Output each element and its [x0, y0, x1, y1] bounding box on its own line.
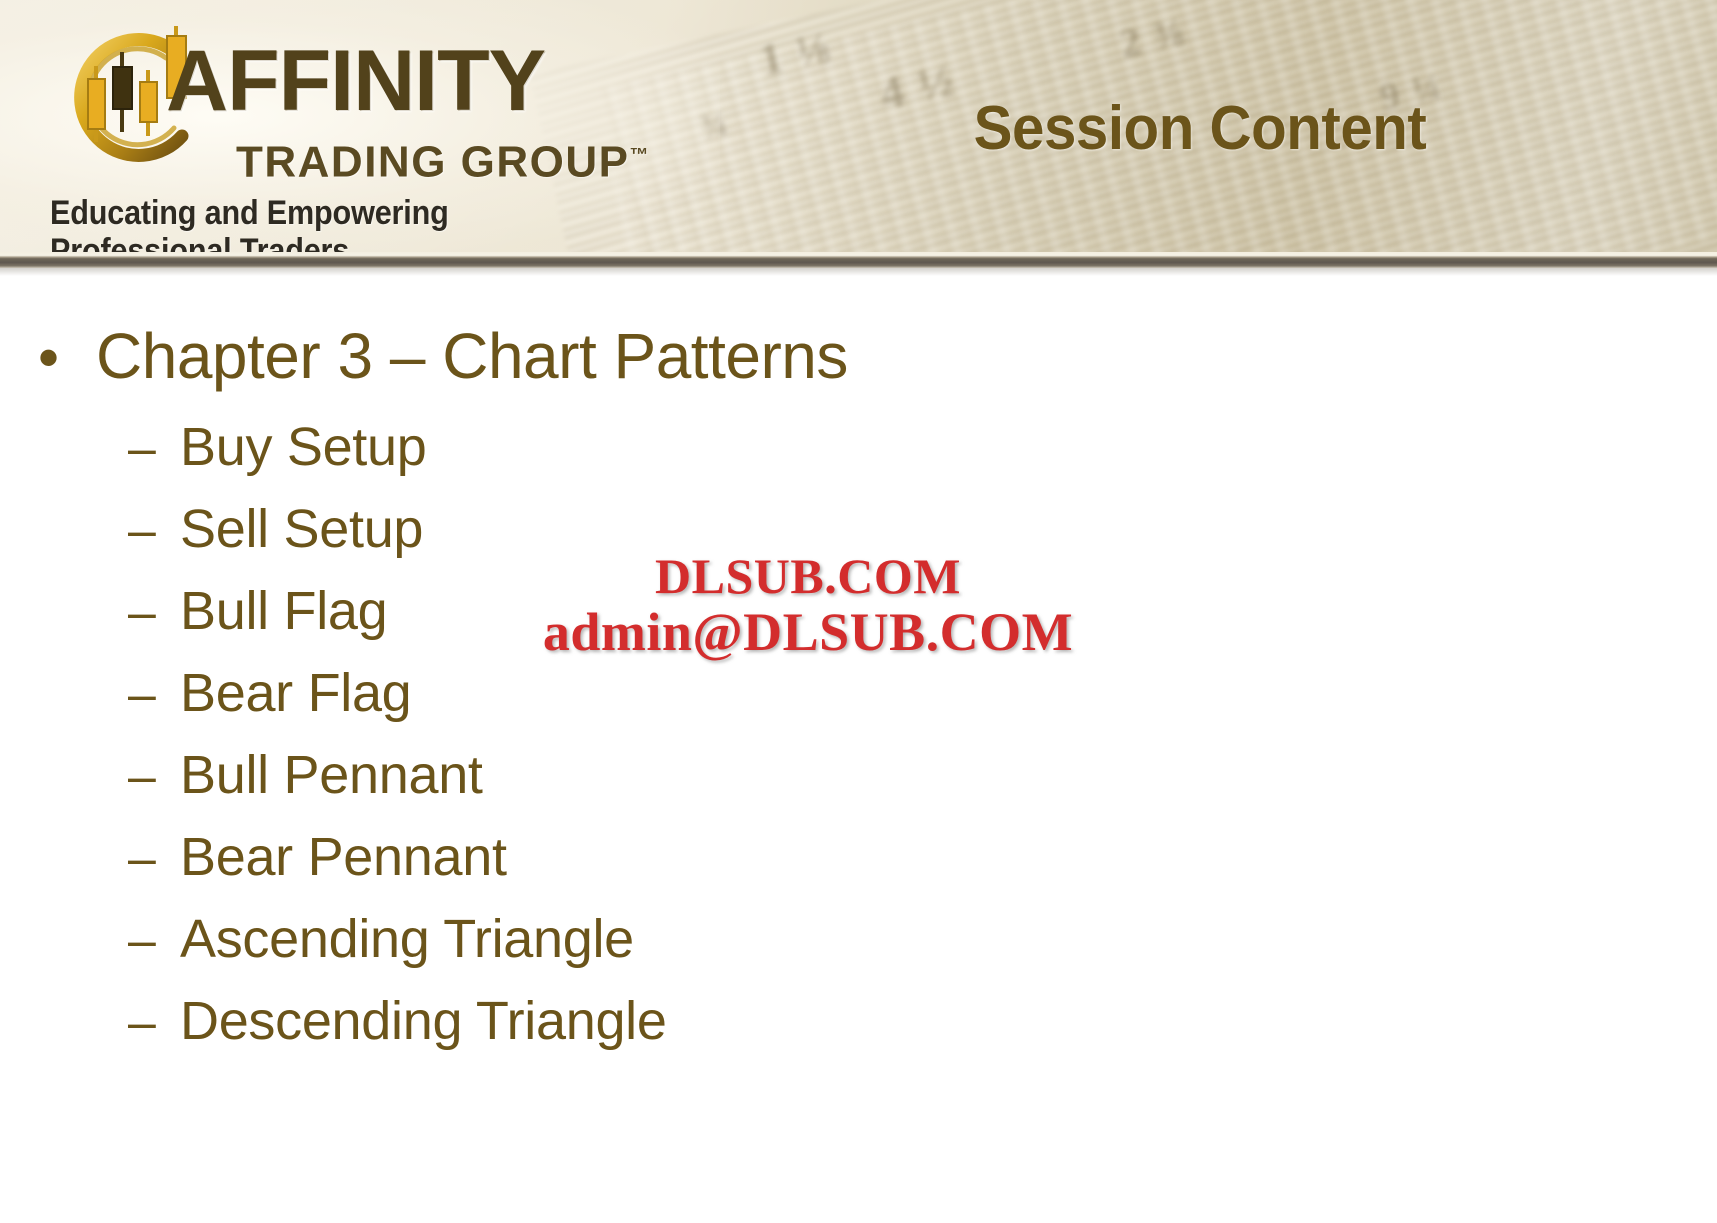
logo-subword-text: TRADING GROUP: [236, 138, 630, 187]
dash-icon: –: [128, 653, 180, 735]
outline-level2-list: – Buy Setup – Sell Setup – Bull Flag – B…: [128, 406, 1128, 1062]
dash-icon: –: [128, 407, 180, 489]
dash-icon: –: [128, 817, 180, 899]
list-item: – Bull Pennant: [128, 734, 1128, 816]
dash-icon: –: [128, 981, 180, 1063]
logo-trademark-symbol: ™: [630, 145, 649, 166]
outline-level2-label: Bull Flag: [180, 570, 387, 652]
dash-icon: –: [128, 571, 180, 653]
list-item: – Bear Flag: [128, 652, 1128, 734]
affinity-logo: AFFINITY TRADING GROUP™ Educating and Em…: [46, 16, 666, 246]
slide-title: Session Content: [918, 93, 1482, 165]
dash-icon: –: [128, 489, 180, 571]
slide-header-banner: 1 ⅛ ¾ 4 ½ 2 ⅜ 9 ¼: [0, 0, 1717, 258]
slide: 1 ⅛ ¾ 4 ½ 2 ⅜ 9 ¼: [0, 0, 1717, 1223]
outline-level2-label: Descending Triangle: [180, 980, 667, 1062]
list-item: – Bear Pennant: [128, 816, 1128, 898]
outline-level2-label: Bear Pennant: [180, 816, 507, 898]
list-item: – Ascending Triangle: [128, 898, 1128, 980]
outline-level2-label: Bear Flag: [180, 652, 411, 734]
slide-body: • Chapter 3 – Chart Patterns – Buy Setup…: [0, 276, 1717, 1223]
list-item: – Descending Triangle: [128, 980, 1128, 1062]
bullet-dot-icon: •: [38, 316, 96, 400]
list-item: – Buy Setup: [128, 406, 1128, 488]
outline-level2-label: Buy Setup: [180, 406, 426, 488]
outline-level2-label: Ascending Triangle: [180, 898, 634, 980]
logo-wordmark: AFFINITY: [166, 38, 545, 124]
outline-level1-item: • Chapter 3 – Chart Patterns: [38, 314, 848, 400]
dash-icon: –: [128, 899, 180, 981]
header-divider-bar: [0, 252, 1717, 268]
dash-icon: –: [128, 735, 180, 817]
logo-tagline: Educating and Empowering Professional Tr…: [50, 194, 604, 258]
outline-level2-label: Bull Pennant: [180, 734, 483, 816]
logo-subword: TRADING GROUP™: [236, 134, 649, 185]
list-item: – Bull Flag: [128, 570, 1128, 652]
outline-level1-label: Chapter 3 – Chart Patterns: [96, 314, 848, 398]
outline-level2-label: Sell Setup: [180, 488, 423, 570]
header-divider-shadow: [0, 268, 1717, 276]
list-item: – Sell Setup: [128, 488, 1128, 570]
